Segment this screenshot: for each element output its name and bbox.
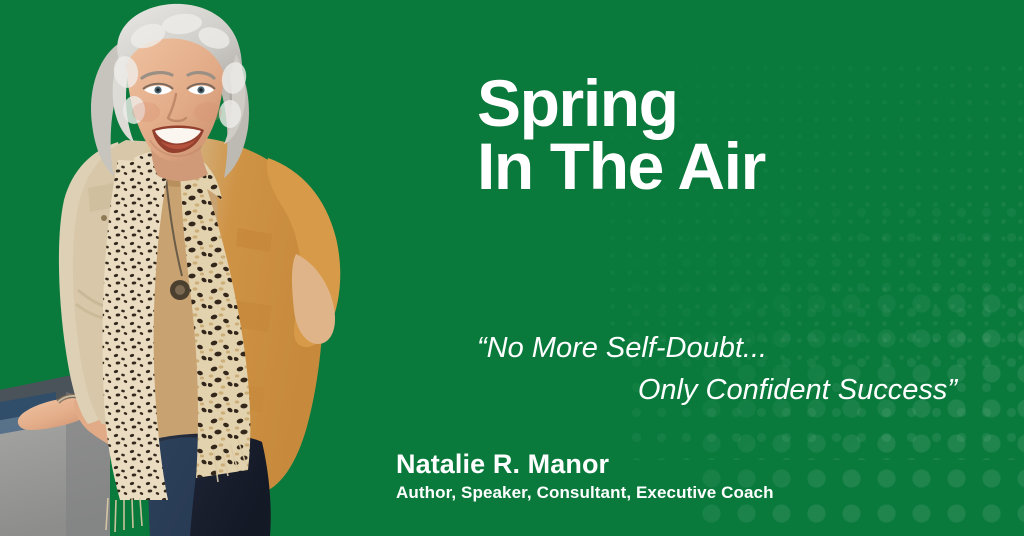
tagline-quote: “No More Self-Doubt... Only Confident Su… bbox=[477, 327, 957, 411]
person-role: Author, Speaker, Consultant, Executive C… bbox=[396, 483, 774, 503]
quote-line-2: Only Confident Success” bbox=[477, 369, 957, 411]
byline: Natalie R. Manor Author, Speaker, Consul… bbox=[396, 449, 774, 503]
person-name: Natalie R. Manor bbox=[396, 449, 774, 480]
page-title: Spring In The Air bbox=[477, 72, 765, 199]
quote-line-1: “No More Self-Doubt... bbox=[477, 327, 957, 369]
speaker-photo bbox=[0, 0, 390, 536]
promo-banner: Spring In The Air “No More Self-Doubt...… bbox=[0, 0, 1024, 536]
